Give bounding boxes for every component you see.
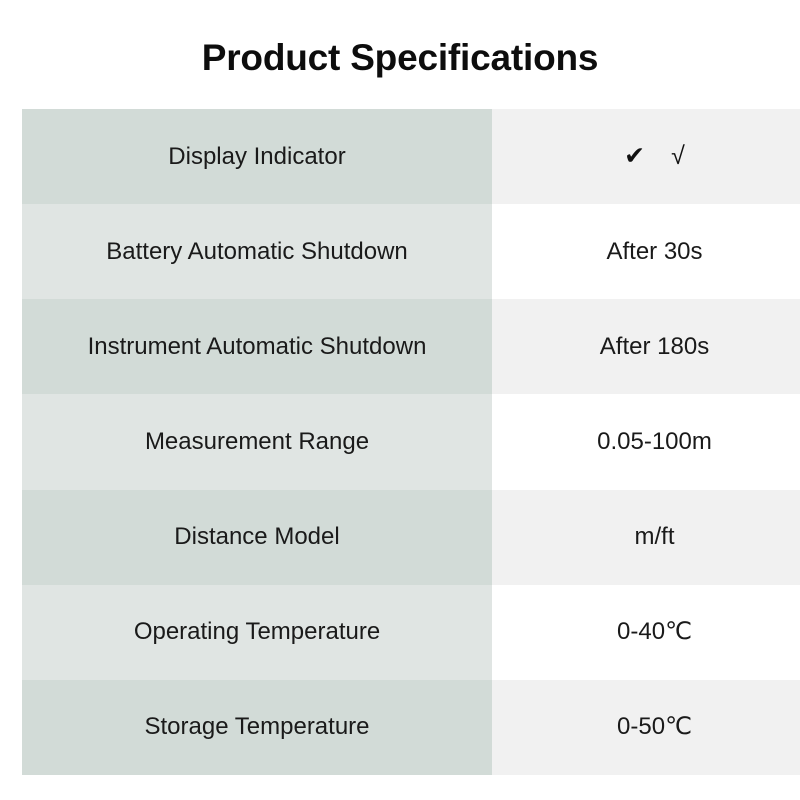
spec-value-battery-automatic-shutdown: After 30s: [492, 204, 800, 299]
spec-label-operating-temperature: Operating Temperature: [22, 585, 492, 680]
table-row: Distance Model m/ft: [22, 490, 800, 585]
spec-value-storage-temperature: 0-50℃: [492, 680, 800, 775]
spec-label-instrument-automatic-shutdown: Instrument Automatic Shutdown: [22, 299, 492, 394]
specifications-table: Display Indicator ✔ √ Battery Automatic …: [22, 109, 800, 775]
spec-value-measurement-range: 0.05-100m: [492, 394, 800, 489]
spec-value-display-indicator: ✔ √: [492, 109, 800, 204]
spec-label-storage-temperature: Storage Temperature: [22, 680, 492, 775]
spec-label-measurement-range: Measurement Range: [22, 394, 492, 489]
table-row: Measurement Range 0.05-100m: [22, 394, 800, 489]
spec-label-display-indicator: Display Indicator: [22, 109, 492, 204]
page-title: Product Specifications: [0, 0, 800, 80]
spec-value-instrument-automatic-shutdown: After 180s: [492, 299, 800, 394]
table-row: Battery Automatic Shutdown After 30s: [22, 204, 800, 299]
table-row: Display Indicator ✔ √: [22, 109, 800, 204]
spec-value-distance-model: m/ft: [492, 490, 800, 585]
check-bold-icon: ✔: [624, 144, 645, 169]
table-row: Storage Temperature 0-50℃: [22, 680, 800, 775]
table-row: Operating Temperature 0-40℃: [22, 585, 800, 680]
spec-label-battery-automatic-shutdown: Battery Automatic Shutdown: [22, 204, 492, 299]
spec-value-operating-temperature: 0-40℃: [492, 585, 800, 680]
checkmark-group: ✔ √: [624, 144, 685, 169]
spec-label-distance-model: Distance Model: [22, 490, 492, 585]
product-specifications-page: Product Specifications Display Indicator…: [0, 0, 800, 800]
table-row: Instrument Automatic Shutdown After 180s: [22, 299, 800, 394]
specifications-table-body: Display Indicator ✔ √ Battery Automatic …: [22, 109, 800, 775]
check-thin-icon: √: [671, 144, 685, 169]
